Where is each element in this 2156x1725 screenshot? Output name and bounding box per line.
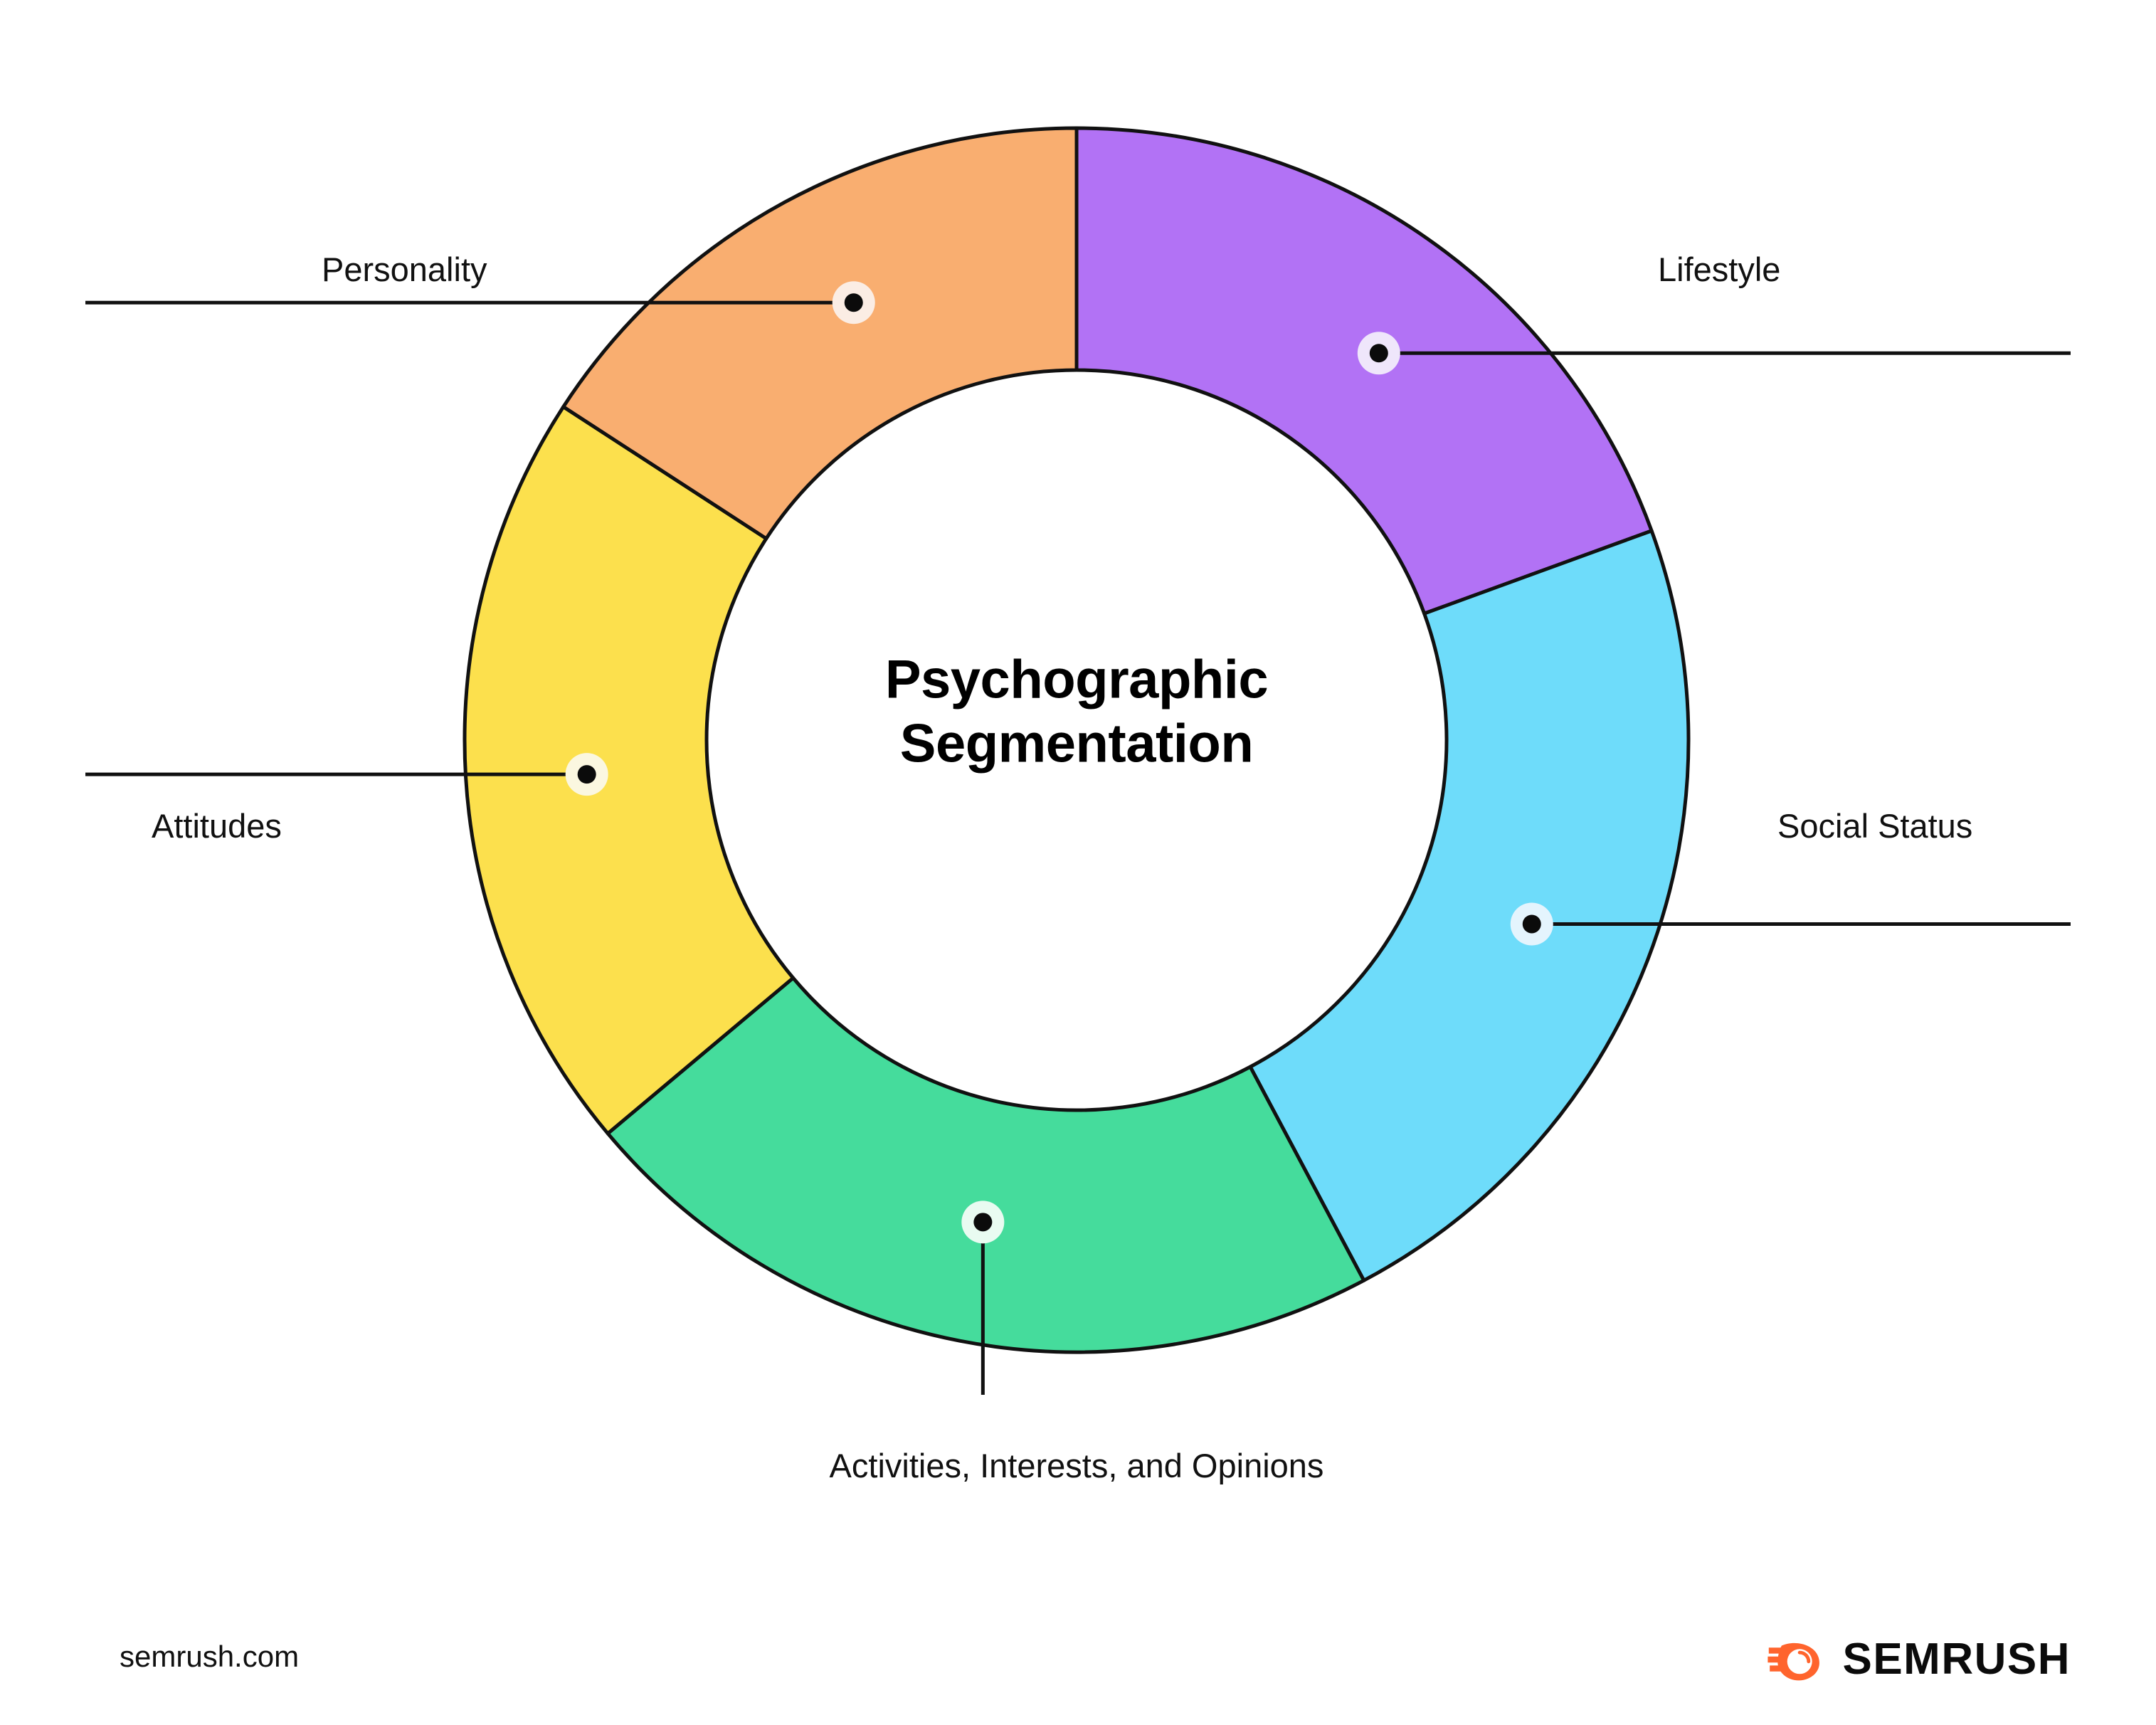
marker-dot-icon[interactable]: [1523, 914, 1541, 933]
marker-dot-icon[interactable]: [973, 1213, 992, 1231]
callout-label-personality: Personality: [322, 250, 487, 289]
donut-slice-lifestyle[interactable]: [1077, 128, 1652, 613]
diagram-canvas: Psychographic Segmentation Personality L…: [0, 0, 2156, 1725]
callout-label-activities-interests-opinions: Activities, Interests, and Opinions: [830, 1446, 1324, 1485]
brand-name: SEMRUSH: [1842, 1634, 2071, 1684]
donut-slice-social-status[interactable]: [1250, 531, 1689, 1280]
semrush-comet-icon: [1767, 1635, 1827, 1684]
marker-dot-icon[interactable]: [845, 293, 863, 312]
page-title: Psychographic Segmentation: [756, 648, 1397, 775]
callout-label-lifestyle: Lifestyle: [1658, 250, 1780, 289]
marker-dot-icon[interactable]: [578, 765, 596, 784]
footer-url: semrush.com: [120, 1640, 299, 1674]
marker-dot-icon[interactable]: [1370, 344, 1388, 362]
callout-label-social-status: Social Status: [1777, 806, 1972, 845]
callout-label-attitudes: Attitudes: [152, 806, 282, 845]
semrush-logo: SEMRUSH: [1767, 1634, 2071, 1684]
